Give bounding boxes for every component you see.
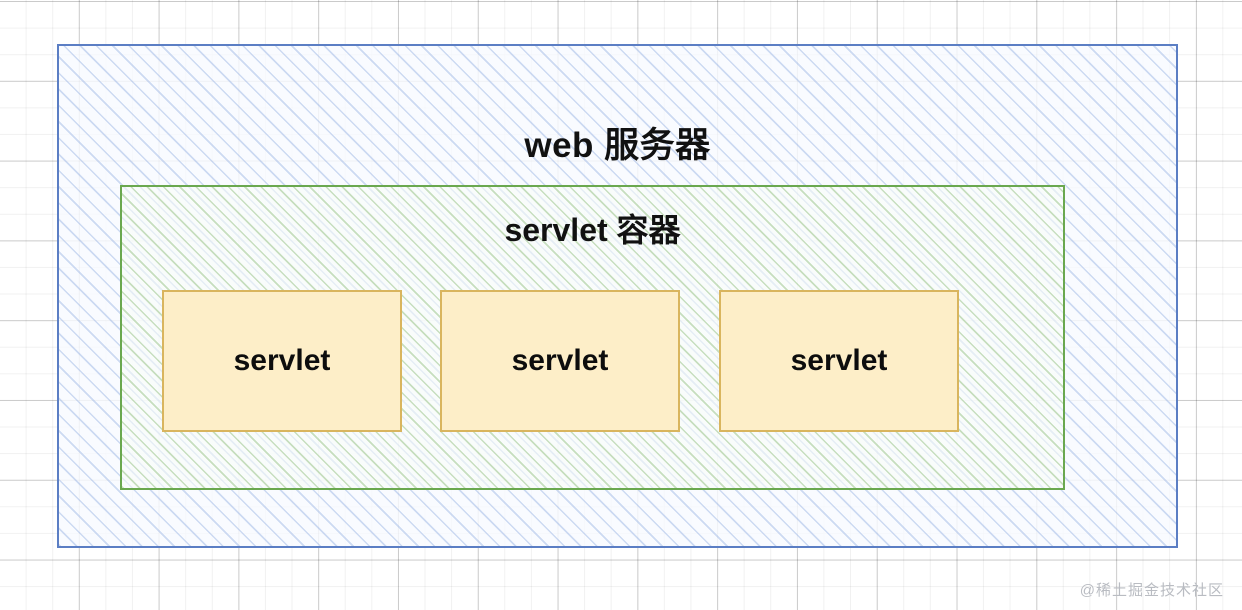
watermark: @稀土掘金技术社区 [1080, 579, 1224, 600]
diagram-canvas: web 服务器 servlet 容器 servlet servlet servl… [0, 0, 1242, 610]
servlet-box: servlet [162, 290, 402, 432]
servlet-box-label: servlet [791, 346, 888, 376]
servlet-box: servlet [440, 290, 680, 432]
servlet-box-label: servlet [512, 346, 609, 376]
servlet-container-box: servlet 容器 servlet servlet servlet [120, 185, 1065, 490]
web-server-title: web 服务器 [59, 128, 1176, 163]
web-server-box: web 服务器 servlet 容器 servlet servlet servl… [57, 44, 1178, 548]
servlet-box-group: servlet servlet servlet [122, 187, 1063, 488]
servlet-box-label: servlet [234, 346, 331, 376]
servlet-box: servlet [719, 290, 959, 432]
